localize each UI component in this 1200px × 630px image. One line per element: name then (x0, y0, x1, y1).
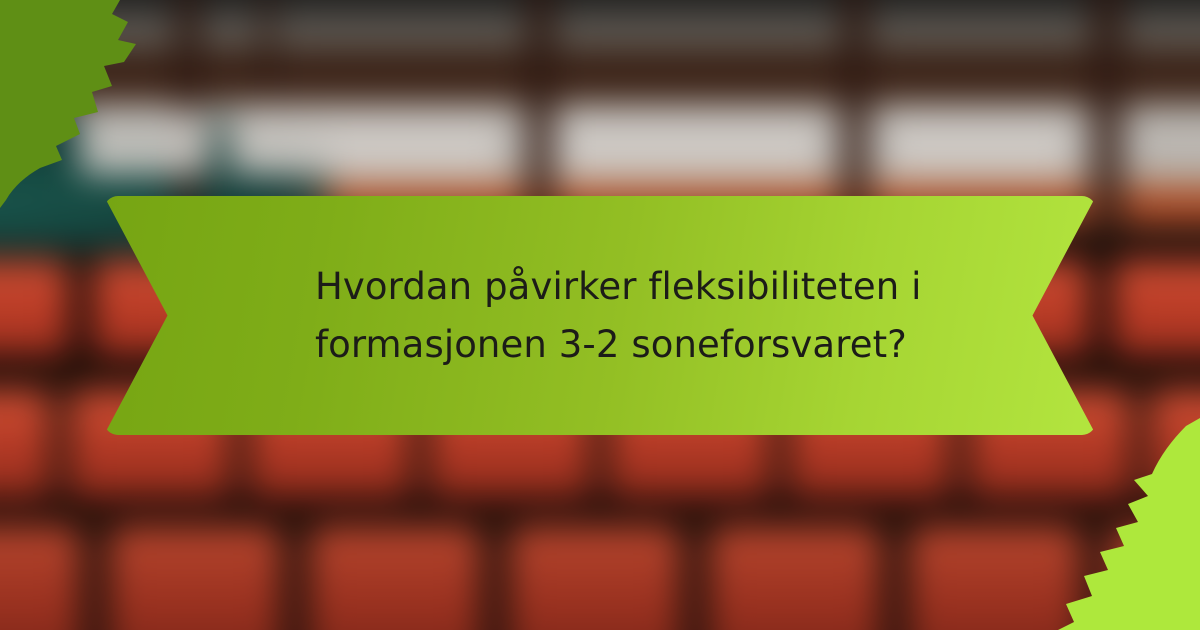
stadium-seat (1150, 390, 1200, 500)
window-slot (80, 110, 210, 174)
stadium-seat (0, 526, 80, 630)
share-card: Hvordan påvirker fleksibiliteten i forma… (0, 0, 1200, 630)
window-slot (890, 110, 1070, 174)
stadium-seat (310, 526, 480, 630)
pillar (840, 0, 870, 230)
stadium-seat (0, 390, 50, 500)
stadium-seat (1110, 260, 1200, 356)
question-text-block: Hvordan påvirker fleksibiliteten i forma… (315, 258, 915, 374)
pillar (525, 0, 555, 230)
question-line-2: formasjonen 3-2 soneforsvaret? (315, 316, 915, 374)
pillar (1090, 0, 1124, 230)
question-ribbon: Hvordan påvirker fleksibiliteten i forma… (104, 196, 1096, 435)
stadium-seat (0, 260, 70, 356)
stadium-seat (710, 526, 880, 630)
stadium-seat (1110, 526, 1200, 630)
seat-gap (1092, 260, 1112, 356)
question-line-1: Hvordan påvirker fleksibiliteten i (315, 258, 915, 316)
pillar (260, 0, 274, 100)
window-slot (230, 110, 500, 174)
stadium-seat (510, 526, 680, 630)
stadium-seat (910, 526, 1080, 630)
window-slot (560, 110, 820, 174)
stadium-seat (110, 526, 280, 630)
seat-gap (70, 260, 92, 356)
